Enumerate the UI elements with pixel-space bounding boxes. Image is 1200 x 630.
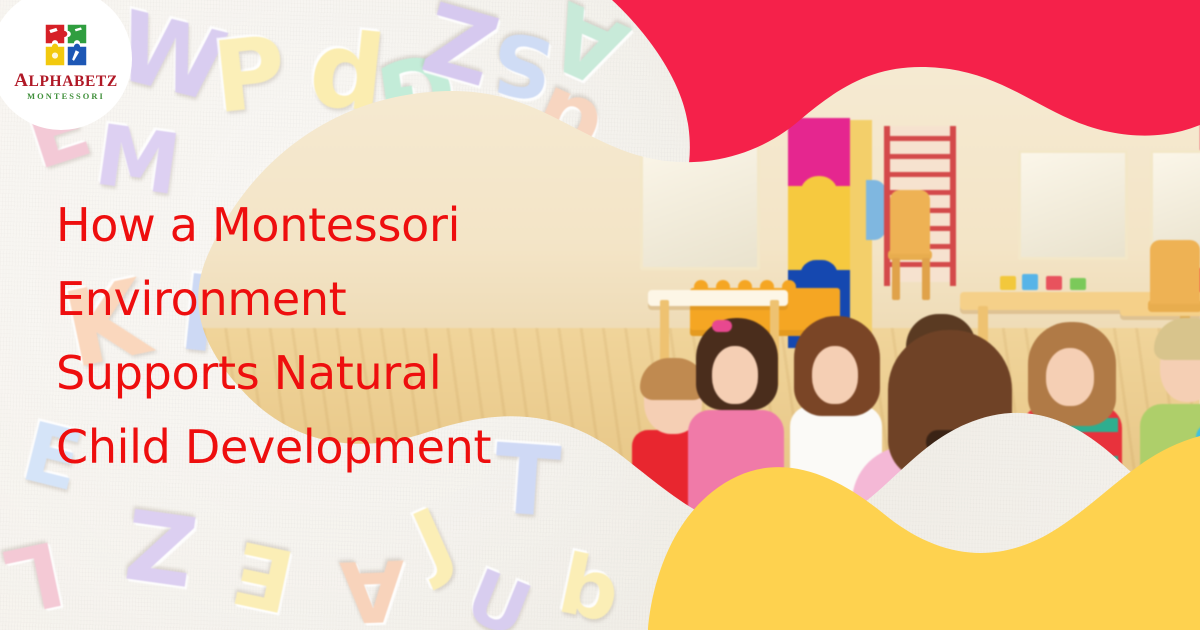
brand-tagline: MONTESSORI (27, 92, 105, 101)
brand-name: ALPHABETZ (14, 71, 118, 90)
headline-line-2: Environment (56, 262, 616, 336)
blog-banner: WEMPdGZSAdKINDERGETJZEALbU (0, 0, 1200, 630)
puzzle-four-piece-icon (44, 23, 88, 67)
headline-line-3: Supports Natural (56, 336, 616, 410)
page-title: How a Montessori Environment Supports Na… (56, 188, 616, 484)
headline-line-1: How a Montessori (56, 188, 616, 262)
headline-line-4: Child Development (56, 410, 616, 484)
